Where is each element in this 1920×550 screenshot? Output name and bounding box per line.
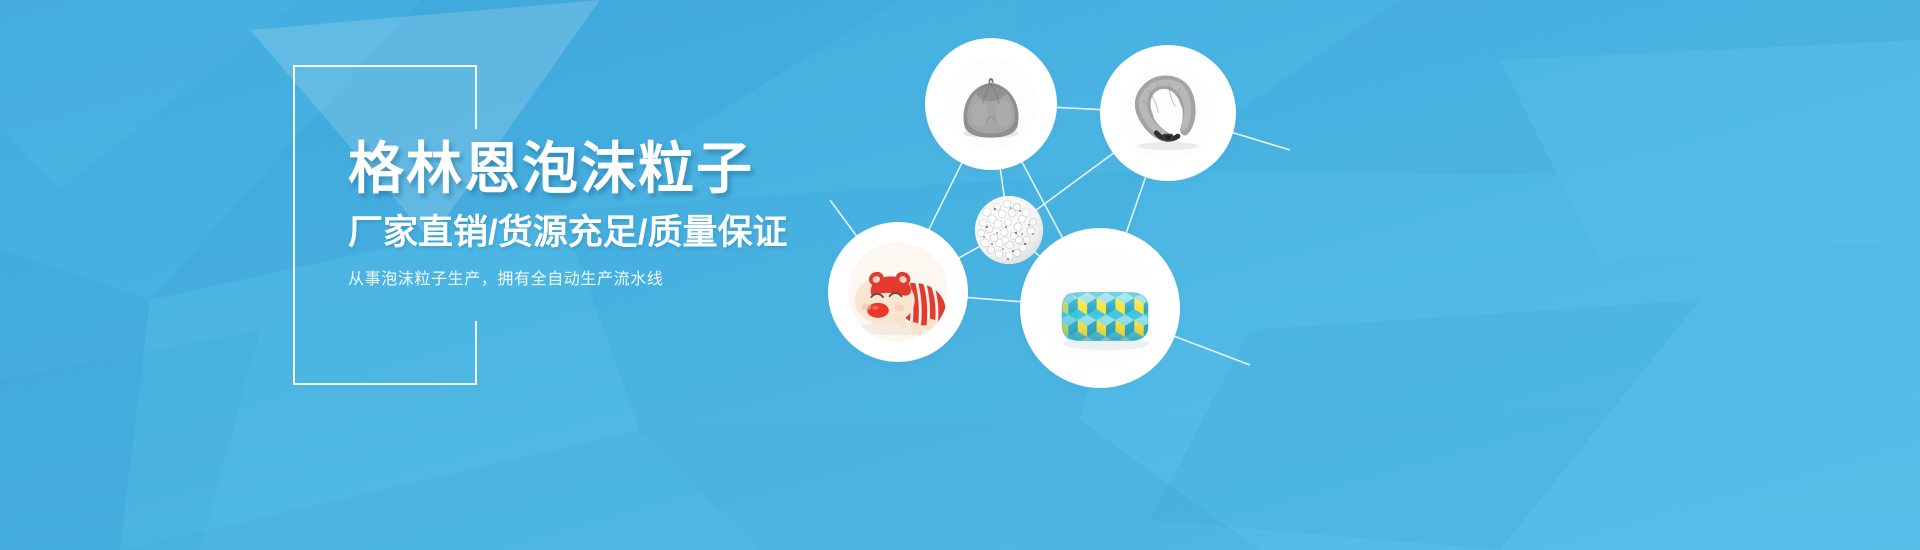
headline-block: 格林恩泡沫粒子 厂家直销/货源充足/质量保证 从事泡沫粒子生产，拥有全自动生产流… <box>348 138 868 291</box>
product-node-beanbag[interactable] <box>935 48 1047 160</box>
foam-beads-photo <box>975 196 1043 264</box>
tagline-text: 厂家直销/货源充足/质量保证 <box>348 213 868 253</box>
page-title: 格林恩泡沫粒子 <box>348 138 868 201</box>
bolster-pillow-photo <box>1040 248 1160 368</box>
beanbag-photo <box>945 58 1037 150</box>
neck-pillow-photo <box>1120 65 1216 161</box>
subtitle-text: 从事泡沫粒子生产，拥有全自动生产流水线 <box>348 270 868 291</box>
product-node-bolster-pillow[interactable] <box>1030 238 1170 378</box>
promo-banner: 格林恩泡沫粒子 厂家直销/货源充足/质量保证 从事泡沫粒子生产，拥有全自动生产流… <box>0 0 1920 550</box>
product-node-plush-toy[interactable] <box>838 232 958 352</box>
product-node-foam-beads[interactable] <box>975 196 1043 264</box>
product-cluster <box>820 0 1340 440</box>
product-node-neck-pillow[interactable] <box>1110 55 1226 171</box>
plush-toy-photo <box>848 242 948 342</box>
